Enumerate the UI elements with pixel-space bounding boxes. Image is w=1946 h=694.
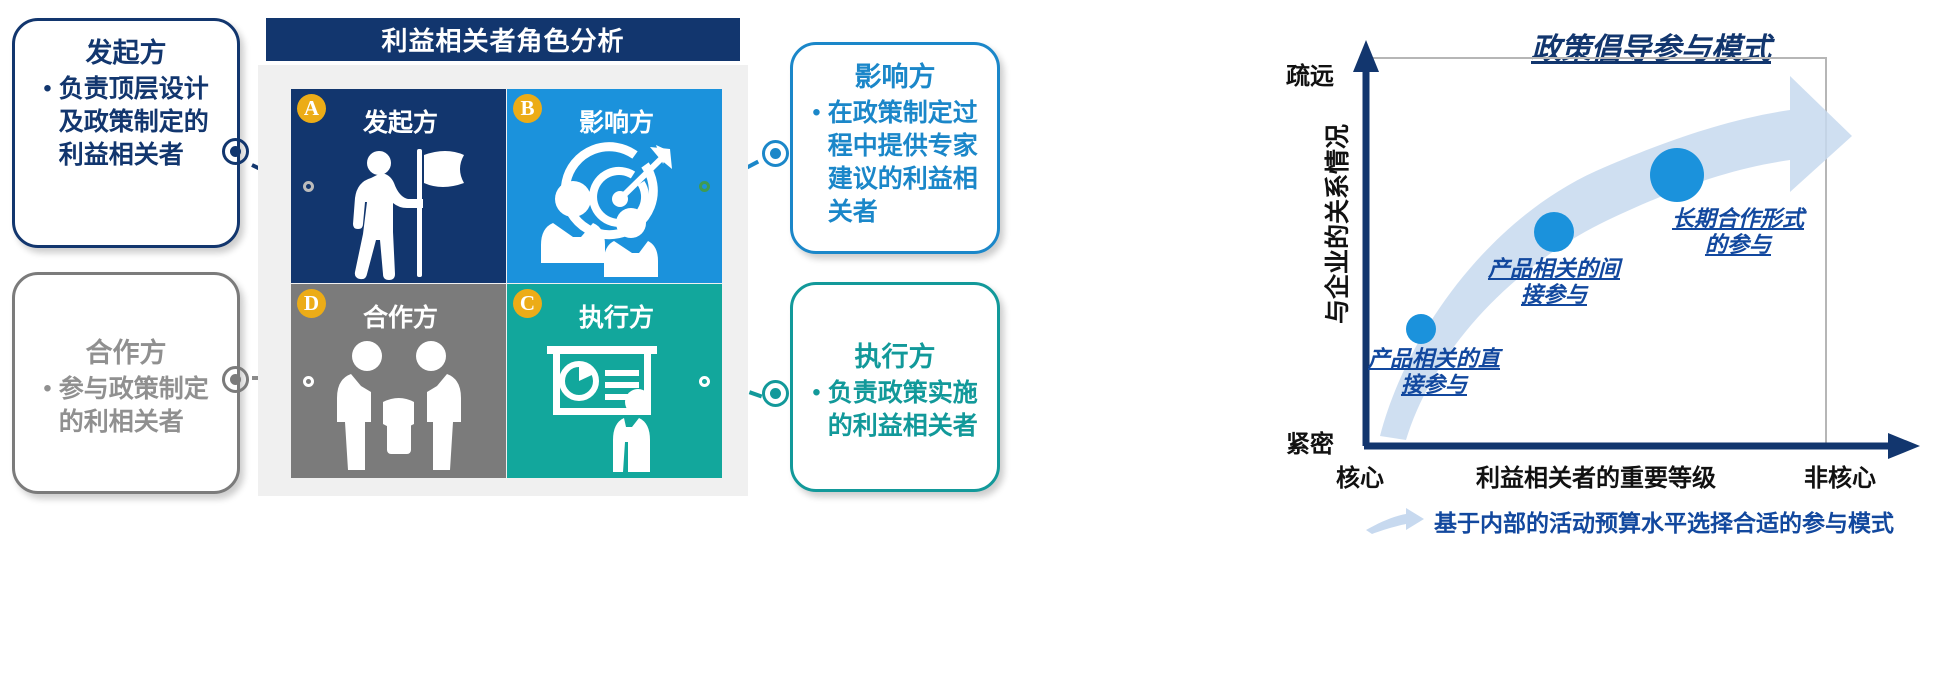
target-audience-icon [507, 141, 722, 281]
quadrant-label-initiator: 发起方 [363, 103, 438, 139]
handshake-icon [291, 336, 506, 476]
bubble-long-term-cooperation[interactable] [1650, 148, 1704, 202]
quadrant-influencer[interactable]: B 影响方 [507, 89, 722, 283]
chart-y-axis-label: 与企业的关系情况 [1318, 104, 1354, 344]
quadrant-badge-d: D [297, 289, 326, 318]
connector-node-influencer[interactable] [762, 140, 789, 167]
connector-node-initiator[interactable] [222, 138, 249, 165]
presenter-chart-icon [507, 336, 722, 476]
quadrant-badge-c: C [513, 289, 542, 318]
y-tick-close: 紧密 [1286, 424, 1334, 459]
bubble-direct-participation[interactable] [1406, 314, 1436, 344]
bubble-label-long-term-cooperation: 长期合作形式 的参与 [1638, 206, 1838, 259]
quadrant-label-influencer: 影响方 [579, 103, 654, 139]
bubble-label-indirect-participation: 产品相关的间 接参与 [1454, 256, 1654, 309]
quadrant-executor[interactable]: C 执行方 [507, 284, 722, 478]
bubble-label-direct-participation: 产品相关的直 接参与 [1334, 346, 1534, 399]
chart-footnote: 基于内部的活动预算水平选择合适的参与模式 [1366, 504, 1946, 538]
quadrant-badge-a: A [297, 94, 326, 123]
connector-node-partner[interactable] [222, 366, 249, 393]
engagement-model-chart: 政策倡导参与模式 与企业的关系情况 利益相关者的重要等级 疏远 紧密 核心 非核… [1256, 6, 1946, 694]
chart-x-axis-label: 利益相关者的重要等级 [1426, 458, 1766, 493]
quadrant-initiator[interactable]: A 发起方 [291, 89, 506, 283]
matrix-body: A 发起方 B 影响方 [258, 65, 748, 496]
quadrant-badge-b: B [513, 94, 542, 123]
flag-bearer-icon [291, 141, 506, 281]
quadrant-label-executor: 执行方 [579, 298, 654, 334]
slide-canvas: 发起方 • 负责顶层设计 及政策制定的 利益相关者 合作方 • 参与政策制定 的… [0, 0, 1946, 694]
bubble-indirect-participation[interactable] [1534, 212, 1574, 252]
chart-footnote-text: 基于内部的活动预算水平选择合适的参与模式 [1434, 504, 1894, 538]
x-tick-noncore: 非核心 [1804, 458, 1876, 493]
matrix-header-title: 利益相关者角色分析 [266, 18, 740, 61]
stakeholder-matrix: 利益相关者角色分析 A 发起方 B 影响方 [258, 18, 748, 496]
quadrant-partner[interactable]: D 合作方 [291, 284, 506, 478]
x-tick-core: 核心 [1336, 458, 1384, 493]
connector-node-executor[interactable] [762, 380, 789, 407]
quadrant-label-partner: 合作方 [363, 298, 438, 334]
y-tick-far: 疏远 [1286, 56, 1334, 91]
arrow-band-icon [1366, 508, 1424, 534]
